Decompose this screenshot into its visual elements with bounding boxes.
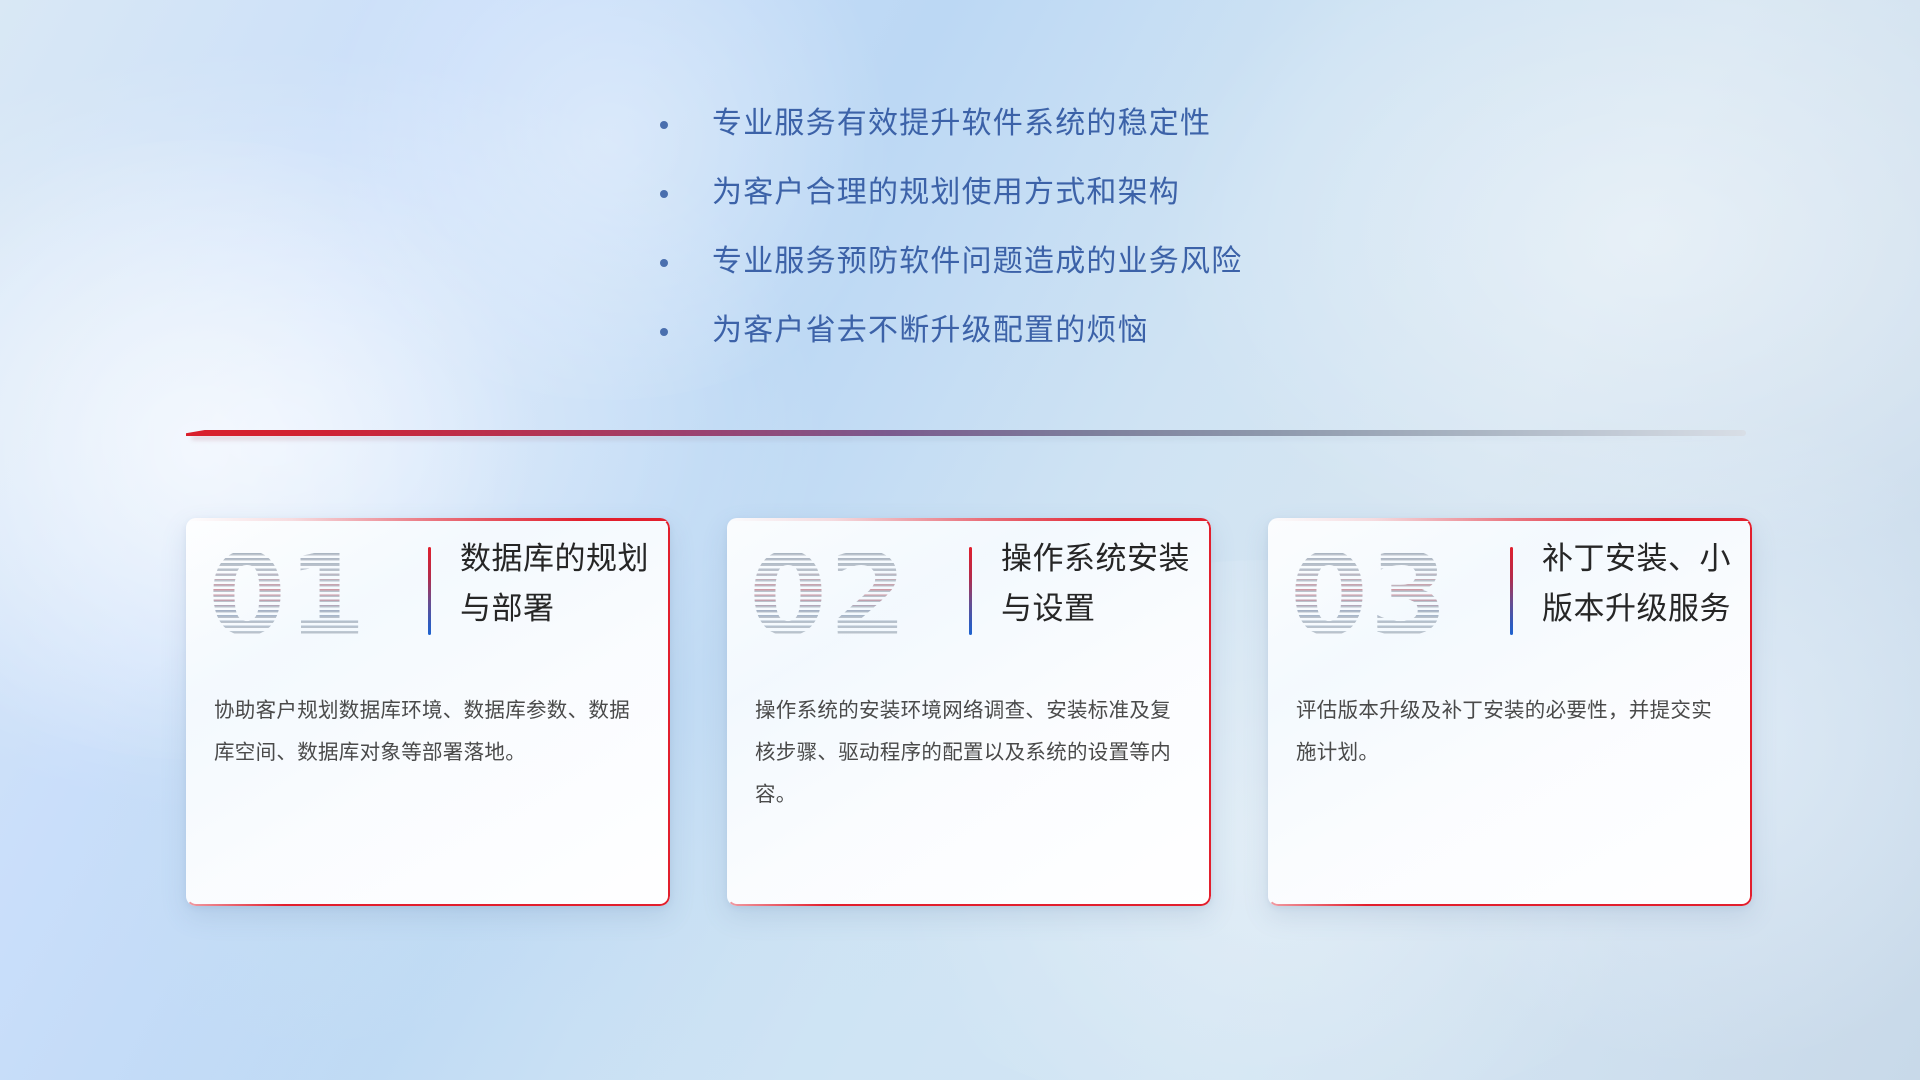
card-number-tint: 02 xyxy=(749,532,949,660)
card-header: 01 01 数据库的规划与部署 xyxy=(186,518,670,668)
bullet-text: 为客户合理的规划使用方式和架构 xyxy=(712,173,1180,213)
list-item: 为客户省去不断升级配置的烦恼 xyxy=(660,311,1460,351)
card-separator-bar xyxy=(969,547,972,635)
bullet-dot-icon xyxy=(660,190,668,198)
bullet-list: 专业服务有效提升软件系统的稳定性 为客户合理的规划使用方式和架构 专业服务预防软… xyxy=(660,104,1460,380)
list-item: 为客户合理的规划使用方式和架构 xyxy=(660,173,1460,213)
bullet-dot-icon xyxy=(660,121,668,129)
card-body-text: 评估版本升级及补丁安装的必要性，并提交实施计划。 xyxy=(1296,690,1724,774)
bullet-text: 专业服务预防软件问题造成的业务风险 xyxy=(712,242,1242,282)
list-item: 专业服务预防软件问题造成的业务风险 xyxy=(660,242,1460,282)
card-header: 03 03 补丁安装、小版本升级服务 xyxy=(1268,518,1752,668)
section-divider xyxy=(186,424,1746,440)
card-number-tint: 03 xyxy=(1290,532,1490,660)
card-separator-bar xyxy=(428,547,431,635)
card-title: 操作系统安装与设置 xyxy=(1001,534,1201,634)
service-card-01[interactable]: 01 01 数据库的规划与部署 协助客户规划数据库环境、数据库参数、数据库空间、… xyxy=(186,518,670,906)
slide-root: 专业服务有效提升软件系统的稳定性 为客户合理的规划使用方式和架构 专业服务预防软… xyxy=(0,0,1920,1080)
divider-bar xyxy=(186,430,1746,436)
card-separator-bar xyxy=(1510,547,1513,635)
service-card-02[interactable]: 02 02 操作系统安装与设置 操作系统的安装环境网络调查、安装标准及复核步骤、… xyxy=(727,518,1211,906)
card-body-text: 操作系统的安装环境网络调查、安装标准及复核步骤、驱动程序的配置以及系统的设置等内… xyxy=(755,690,1183,816)
card-title: 数据库的规划与部署 xyxy=(460,534,660,634)
bullet-dot-icon xyxy=(660,328,668,336)
service-card-03[interactable]: 03 03 补丁安装、小版本升级服务 评估版本升级及补丁安装的必要性，并提交实施… xyxy=(1268,518,1752,906)
bullet-text: 专业服务有效提升软件系统的稳定性 xyxy=(712,104,1211,144)
card-number-tint: 01 xyxy=(208,532,408,660)
card-header: 02 02 操作系统安装与设置 xyxy=(727,518,1211,668)
list-item: 专业服务有效提升软件系统的稳定性 xyxy=(660,104,1460,144)
card-grid: 01 01 数据库的规划与部署 协助客户规划数据库环境、数据库参数、数据库空间、… xyxy=(186,518,1752,906)
card-title: 补丁安装、小版本升级服务 xyxy=(1542,534,1742,634)
card-body-text: 协助客户规划数据库环境、数据库参数、数据库空间、数据库对象等部署落地。 xyxy=(214,690,642,774)
bullet-dot-icon xyxy=(660,259,668,267)
divider-shadow xyxy=(192,436,1746,440)
bullet-text: 为客户省去不断升级配置的烦恼 xyxy=(712,311,1149,351)
